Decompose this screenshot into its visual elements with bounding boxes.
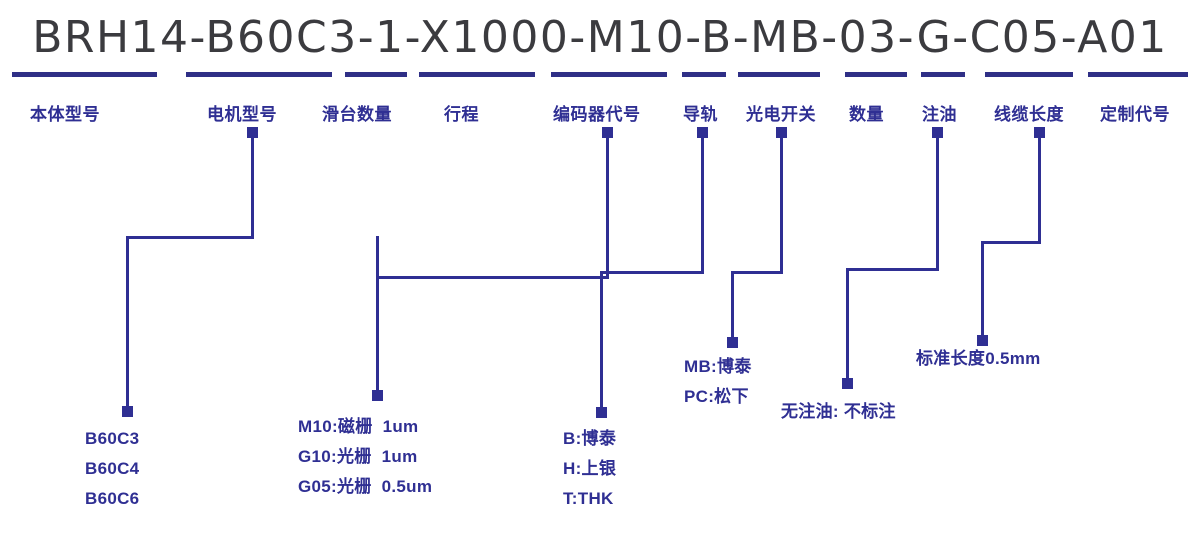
option-line: G10:光栅 1um bbox=[298, 442, 432, 472]
option-block-oiling: 无注油: 不标注 bbox=[781, 397, 896, 427]
segment-underline-oiling bbox=[921, 72, 965, 77]
segment-underline-slider-count bbox=[345, 72, 407, 77]
leader-vertical-encoder-code-lower bbox=[376, 236, 379, 396]
leader-end-marker-body-model bbox=[122, 406, 133, 417]
model-code-title: BRH14-B60C3-1-X1000-M10-B-MB-03-G-C05-A0… bbox=[0, 12, 1200, 63]
category-label-guide-rail: 导轨 bbox=[683, 100, 718, 125]
leader-vertical-guide-rail-upper bbox=[701, 133, 704, 273]
category-label-slider-count: 滑台数量 bbox=[322, 100, 392, 125]
segment-underline-guide-rail bbox=[682, 72, 726, 77]
segment-underline-motor-model bbox=[186, 72, 332, 77]
category-label-cable-length: 线缆长度 bbox=[994, 100, 1064, 125]
leader-horizontal-encoder-code-top bbox=[376, 236, 377, 239]
leader-vertical-encoder-code-upper bbox=[606, 133, 609, 278]
option-line: 标准长度0.5mm bbox=[916, 344, 1041, 374]
segment-underline-photo-switch bbox=[738, 72, 820, 77]
segment-underline-custom-code bbox=[1088, 72, 1188, 77]
leader-horizontal-encoder-code bbox=[376, 276, 609, 279]
option-line: 无注油: 不标注 bbox=[781, 397, 896, 427]
leader-end-marker-photo-switch bbox=[727, 337, 738, 348]
option-block-body-model: B60C3 B60C4 B60C6 bbox=[85, 424, 139, 514]
option-line: T:THK bbox=[563, 484, 616, 514]
option-line: B60C6 bbox=[85, 484, 139, 514]
option-block-guide-rail: B:博泰 H:上银 T:THK bbox=[563, 424, 616, 514]
leader-vertical-oiling-lower bbox=[846, 268, 849, 384]
option-line: B:博泰 bbox=[563, 424, 616, 454]
leader-end-marker-oiling bbox=[842, 378, 853, 389]
option-line: B60C4 bbox=[85, 454, 139, 484]
segment-underline-stroke bbox=[419, 72, 535, 77]
category-label-photo-switch: 光电开关 bbox=[746, 100, 816, 125]
leader-vertical-body-model-lower bbox=[126, 236, 129, 412]
leader-end-marker-encoder-code bbox=[372, 390, 383, 401]
category-label-oiling: 注油 bbox=[922, 100, 957, 125]
model-number-breakdown-diagram: BRH14-B60C3-1-X1000-M10-B-MB-03-G-C05-A0… bbox=[0, 0, 1200, 550]
leader-horizontal-cable-length bbox=[981, 241, 1041, 244]
category-label-stroke: 行程 bbox=[444, 100, 479, 125]
leader-vertical-body-model-upper bbox=[251, 133, 254, 238]
leader-vertical-photo-switch-upper bbox=[780, 133, 783, 273]
option-block-encoder-code: M10:磁栅 1um G10:光栅 1um G05:光栅 0.5um bbox=[298, 412, 432, 502]
leader-vertical-oiling-upper bbox=[936, 133, 939, 270]
option-block-cable-length: 标准长度0.5mm bbox=[916, 344, 1041, 374]
category-label-encoder-code: 编码器代号 bbox=[553, 100, 641, 125]
leader-horizontal-body-model bbox=[126, 236, 254, 239]
option-line: G05:光栅 0.5um bbox=[298, 472, 432, 502]
segment-underline-encoder-code bbox=[551, 72, 667, 77]
segment-underline-body-model bbox=[12, 72, 157, 77]
leader-vertical-guide-rail-lower bbox=[600, 271, 603, 413]
category-label-quantity: 数量 bbox=[849, 100, 884, 125]
segment-underline-cable-length bbox=[985, 72, 1073, 77]
leader-horizontal-guide-rail bbox=[600, 271, 704, 274]
leader-horizontal-photo-switch bbox=[731, 271, 783, 274]
leader-horizontal-oiling bbox=[846, 268, 939, 271]
category-label-body-model: 本体型号 bbox=[30, 100, 100, 125]
category-label-custom-code: 定制代号 bbox=[1100, 100, 1170, 125]
category-label-motor-model: 电机型号 bbox=[207, 100, 277, 125]
option-block-photo-switch: MB:博泰 PC:松下 bbox=[684, 352, 752, 412]
option-line: MB:博泰 bbox=[684, 352, 752, 382]
option-line: B60C3 bbox=[85, 424, 139, 454]
option-line: H:上银 bbox=[563, 454, 616, 484]
leader-vertical-cable-length-upper bbox=[1038, 133, 1041, 243]
option-line: PC:松下 bbox=[684, 382, 752, 412]
leader-vertical-photo-switch-lower bbox=[731, 271, 734, 343]
leader-end-marker-guide-rail bbox=[596, 407, 607, 418]
leader-vertical-cable-length-lower bbox=[981, 241, 984, 341]
option-line: M10:磁栅 1um bbox=[298, 412, 432, 442]
segment-underline-quantity bbox=[845, 72, 907, 77]
